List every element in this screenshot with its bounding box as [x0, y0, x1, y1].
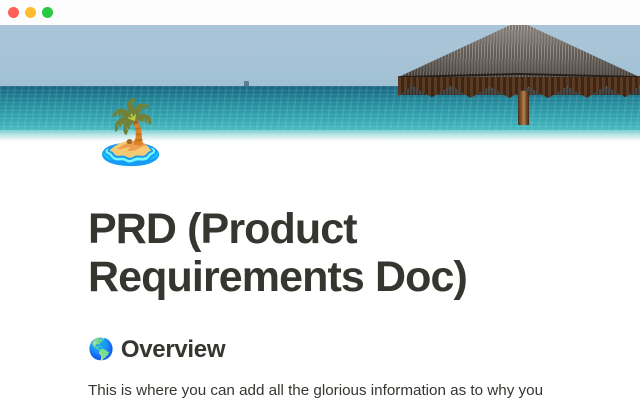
minimize-window-button[interactable]	[25, 7, 36, 18]
globe-americas-icon: 🌎	[88, 339, 114, 360]
traffic-light-group	[8, 7, 53, 18]
overview-paragraph[interactable]: This is where you can add all the glorio…	[88, 378, 550, 400]
distant-boat	[244, 81, 249, 86]
page-title[interactable]: PRD (Product Requirements Doc)	[88, 205, 550, 301]
section-heading-overview[interactable]: 🌎 Overview	[88, 334, 550, 365]
maximize-window-button[interactable]	[42, 7, 53, 18]
umbrella-pole	[518, 91, 529, 125]
palapa-umbrella-icon	[398, 25, 640, 125]
document-body: PRD (Product Requirements Doc) 🌎 Overvie…	[0, 146, 640, 400]
section-heading-label: Overview	[121, 334, 225, 365]
app-window: 🏝️ PRD (Product Requirements Doc) 🌎 Over…	[0, 0, 640, 400]
close-window-button[interactable]	[8, 7, 19, 18]
desert-island-emoji[interactable]: 🏝️	[92, 98, 162, 168]
window-titlebar	[0, 0, 640, 25]
